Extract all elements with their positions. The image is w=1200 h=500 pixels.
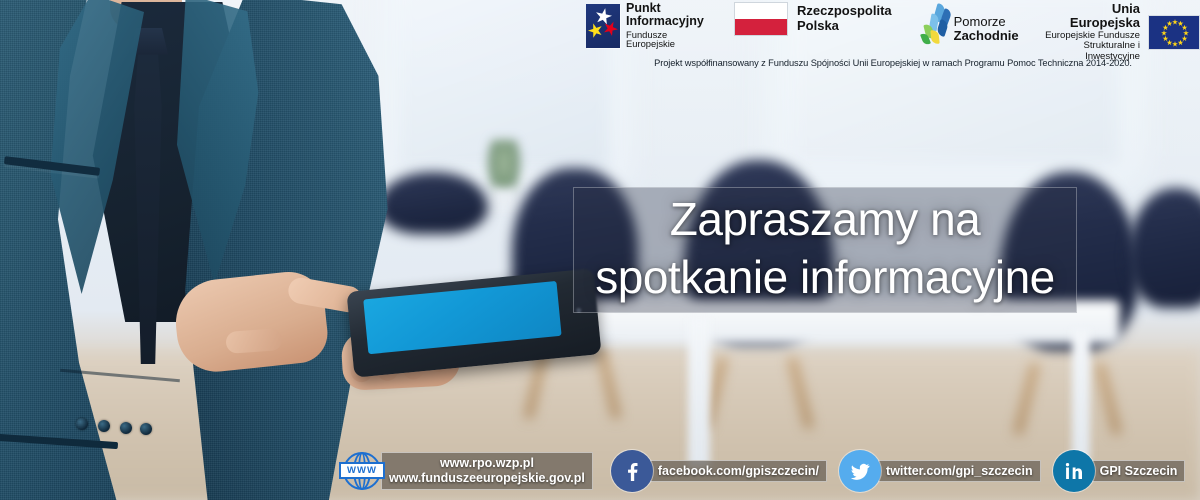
www-icon-label: WWW <box>339 462 385 479</box>
eu-flag-icon <box>1148 15 1200 50</box>
logo-line-2: Polska <box>797 19 892 34</box>
page-title: Zapraszamy na spotkanie informacyjne <box>560 190 1090 306</box>
website-item[interactable]: WWW www.rpo.wzp.pl www.funduszeeuropejsk… <box>340 449 593 493</box>
logo-line-1: Pomorze <box>954 15 1019 29</box>
twitter-bird-icon[interactable] <box>839 450 881 492</box>
sleeve-button <box>76 418 88 430</box>
polish-flag-icon <box>734 2 788 36</box>
eu-star <box>1162 25 1168 31</box>
sleeve-button <box>120 422 132 434</box>
eu-star <box>1167 21 1173 27</box>
pomorze-zachodnie-leaf-icon <box>918 2 952 46</box>
logo-line-1: Rzeczpospolita <box>797 4 892 19</box>
linkedin-handle[interactable]: GPI Szczecin <box>1092 460 1186 483</box>
logo-line-1: Punkt <box>626 2 706 15</box>
thumb <box>225 328 282 354</box>
logo-pomorze-zachodnie: Pomorze Zachodnie <box>918 2 1019 46</box>
table-leg <box>1072 330 1090 460</box>
linkedin-item[interactable]: GPI Szczecin <box>1053 450 1186 492</box>
businessman-figure <box>0 0 460 500</box>
chair <box>1128 188 1200 338</box>
fundusze-europejskie-stars-icon <box>586 4 620 48</box>
logo-unia-europejska: Unia Europejska Europejskie Fundusze Str… <box>1043 2 1200 62</box>
logo-line-2: Zachodnie <box>954 29 1019 43</box>
event-banner: Zapraszamy na spotkanie informacyjne Pun… <box>0 0 1200 500</box>
twitter-url[interactable]: twitter.com/gpi_szczecin <box>878 460 1041 483</box>
twitter-item[interactable]: twitter.com/gpi_szczecin <box>839 450 1041 492</box>
facebook-url[interactable]: facebook.com/gpiszczecin/ <box>650 460 827 483</box>
eu-star <box>1161 30 1167 36</box>
www-globe-icon: WWW <box>340 449 384 493</box>
logo-punkt-informacyjny: Punkt Informacyjny Fundusze Europejskie <box>586 2 706 49</box>
linkedin-icon[interactable] <box>1053 450 1095 492</box>
eu-star <box>1178 21 1184 27</box>
facebook-icon[interactable] <box>611 450 653 492</box>
logo-rzeczpospolita-polska: Rzeczpospolita Polska <box>734 2 892 36</box>
eu-star <box>1172 19 1178 25</box>
website-urls[interactable]: www.rpo.wzp.pl www.funduszeeuropejskie.g… <box>381 452 593 490</box>
logo-line-1: Unia Europejska <box>1043 2 1140 31</box>
eu-star <box>1167 40 1173 46</box>
sleeve-button <box>140 423 152 435</box>
funding-disclaimer: Projekt współfinansowany z Funduszu Spój… <box>586 58 1200 68</box>
facebook-item[interactable]: facebook.com/gpiszczecin/ <box>611 450 827 492</box>
eu-star <box>1183 30 1189 36</box>
eu-star <box>1182 36 1188 42</box>
eu-star <box>1182 25 1188 31</box>
eu-star <box>1178 40 1184 46</box>
logo-line-2: Informacyjny <box>626 15 706 28</box>
sleeve-button <box>98 420 110 432</box>
eu-star <box>1162 36 1168 42</box>
eu-star <box>1172 41 1178 47</box>
logo-line-3: Fundusze Europejskie <box>626 30 706 50</box>
social-media-bar: WWW www.rpo.wzp.pl www.funduszeeuropejsk… <box>0 442 1200 500</box>
